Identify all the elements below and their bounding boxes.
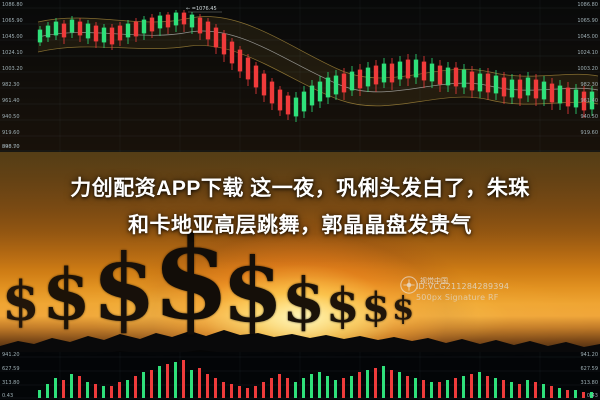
y-axis-label-right: 961.40 (581, 98, 599, 104)
watermark-id: ID:VCG211284289394 (416, 282, 586, 291)
headline-line-1: 力创配资APP下载 这一夜，巩俐头发白了，朱珠 (0, 170, 600, 207)
y-axis-label-left: 919.60 (2, 130, 20, 136)
volume-chart-bottom: 941.20 627.59 313.80 0.43 941.20 627.59 … (0, 352, 600, 400)
chart-bottom-svg (0, 352, 600, 400)
dollar-sign-icon: $ (222, 246, 283, 334)
y-axis-label-right: 1065.90 (577, 18, 598, 24)
dollar-sign-icon: $ (392, 292, 414, 324)
y-axis-label-left: 941.20 (2, 352, 20, 358)
dollar-sign-icon: $ (326, 282, 359, 330)
headline-line-2: 和卡地亚高层跳舞，郭晶晶盘发贵气 (0, 207, 600, 244)
headline-text: 力创配资APP下载 这一夜，巩俐头发白了，朱珠 和卡地亚高层跳舞，郭晶晶盘发贵气 (0, 170, 600, 244)
y-axis-label-left: 313.80 (2, 380, 20, 386)
y-axis-label-left: 627.59 (2, 366, 20, 372)
chart-top-svg (0, 0, 600, 152)
y-axis-label-left: 1024.10 (2, 50, 23, 56)
dollar-sign-icon: $ (362, 288, 390, 328)
dollar-sign-icon: $ (2, 274, 40, 328)
y-axis-label-right: 1086.80 (577, 2, 598, 8)
y-axis-label-left: 1065.90 (2, 18, 23, 24)
dollar-sign-icon: $ (282, 270, 325, 332)
watermark-info: ID:VCG211284289394 500px Signature RF (416, 282, 586, 316)
y-axis-label-right: 1003.20 (577, 66, 598, 72)
chart-annotation: ← =1076.45 (186, 6, 217, 12)
candlestick-chart-top: 1086.80 1065.90 1045.00 1024.10 1003.20 … (0, 0, 600, 152)
y-axis-label-right: 627.59 (581, 366, 599, 372)
y-axis-label-left: 1086.80 (2, 2, 23, 8)
y-axis-label-right: 0.43 (587, 393, 598, 399)
news-banner-image: $ $ $ $ $ $ $ $ $ (0, 0, 600, 400)
y-axis-label-left: 1045.00 (2, 34, 23, 40)
y-axis-label-right: 919.60 (581, 130, 599, 136)
y-axis-label-left: 1003.20 (2, 66, 23, 72)
y-axis-label-right: 1024.10 (577, 50, 598, 56)
y-axis-label-right: 982.30 (581, 82, 599, 88)
volume-bars (38, 360, 593, 398)
chart-corner-label: 940.50 (2, 144, 20, 150)
y-axis-label-right: 941.20 (581, 352, 599, 358)
y-axis-label-right: 1045.00 (577, 34, 598, 40)
y-axis-label-right: 940.50 (581, 114, 599, 120)
y-axis-label-left: 961.40 (2, 98, 20, 104)
dollar-sign-icon: $ (42, 260, 91, 330)
dollar-sign-icon: $ (92, 242, 156, 334)
y-axis-label-left: 982.30 (2, 82, 20, 88)
y-axis-label-left: 0.43 (2, 393, 13, 399)
y-axis-label-right: 313.80 (581, 380, 599, 386)
watermark-size: 500px Signature RF (416, 293, 586, 302)
y-axis-label-left: 940.50 (2, 114, 20, 120)
